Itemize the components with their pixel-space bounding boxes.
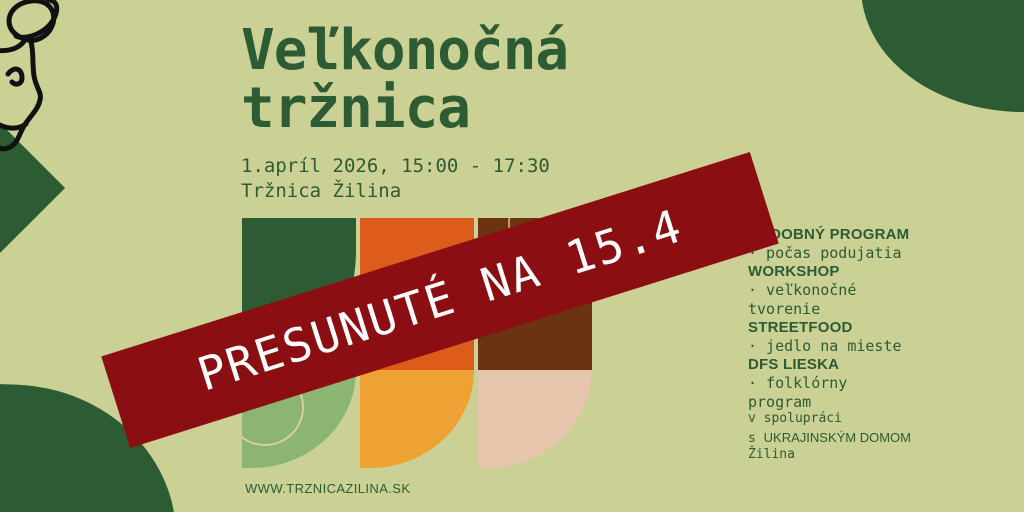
program-list: HUDOBNÝ PROGRAM · počas podujatia WORKSH… bbox=[748, 226, 948, 412]
collage-panel-brown-bottom bbox=[478, 370, 592, 468]
program-heading-streetfood: STREETFOOD bbox=[748, 319, 948, 337]
page-title-line-1: Veľkonočná bbox=[241, 22, 761, 80]
cooperation-line-1: v spolupráci bbox=[748, 411, 948, 427]
decor-shape-top-right bbox=[858, 0, 1024, 123]
program-item-workshop-2: tvorenie bbox=[748, 300, 948, 319]
cooperation-prefix: s bbox=[748, 431, 764, 446]
program-heading-workshop: WORKSHOP bbox=[748, 263, 948, 281]
program-item-music-1: · počas podujatia bbox=[748, 244, 948, 263]
cooperation-line-2: s UKRAJINSKÝM DOMOM bbox=[748, 427, 948, 447]
cooperation-partner: UKRAJINSKÝM DOMOM bbox=[764, 430, 911, 445]
program-item-streetfood-1: · jedlo na mieste bbox=[748, 337, 948, 356]
face-doodle-icon bbox=[0, 0, 116, 174]
footer-website-url[interactable]: WWW.TRZNICAZILINA.SK bbox=[245, 481, 410, 496]
program-heading-dfs-lieska: DFS LIESKA bbox=[748, 356, 948, 374]
poster-canvas: Veľkonočná tržnica 1.apríl 2026, 15:00 -… bbox=[0, 0, 1024, 512]
cooperation-note: v spolupráci s UKRAJINSKÝM DOMOM Žilina bbox=[748, 411, 948, 463]
program-item-dfs-1: · folklórny bbox=[748, 374, 948, 393]
collage-panel-orange-bottom bbox=[360, 370, 474, 468]
cooperation-line-3: Žilina bbox=[748, 447, 948, 463]
program-item-dfs-2: program bbox=[748, 393, 948, 412]
program-item-workshop-1: · veľkonočné bbox=[748, 281, 948, 300]
page-title-line-2: tržnica bbox=[241, 80, 761, 138]
decor-shape-left-diamond bbox=[0, 123, 65, 253]
